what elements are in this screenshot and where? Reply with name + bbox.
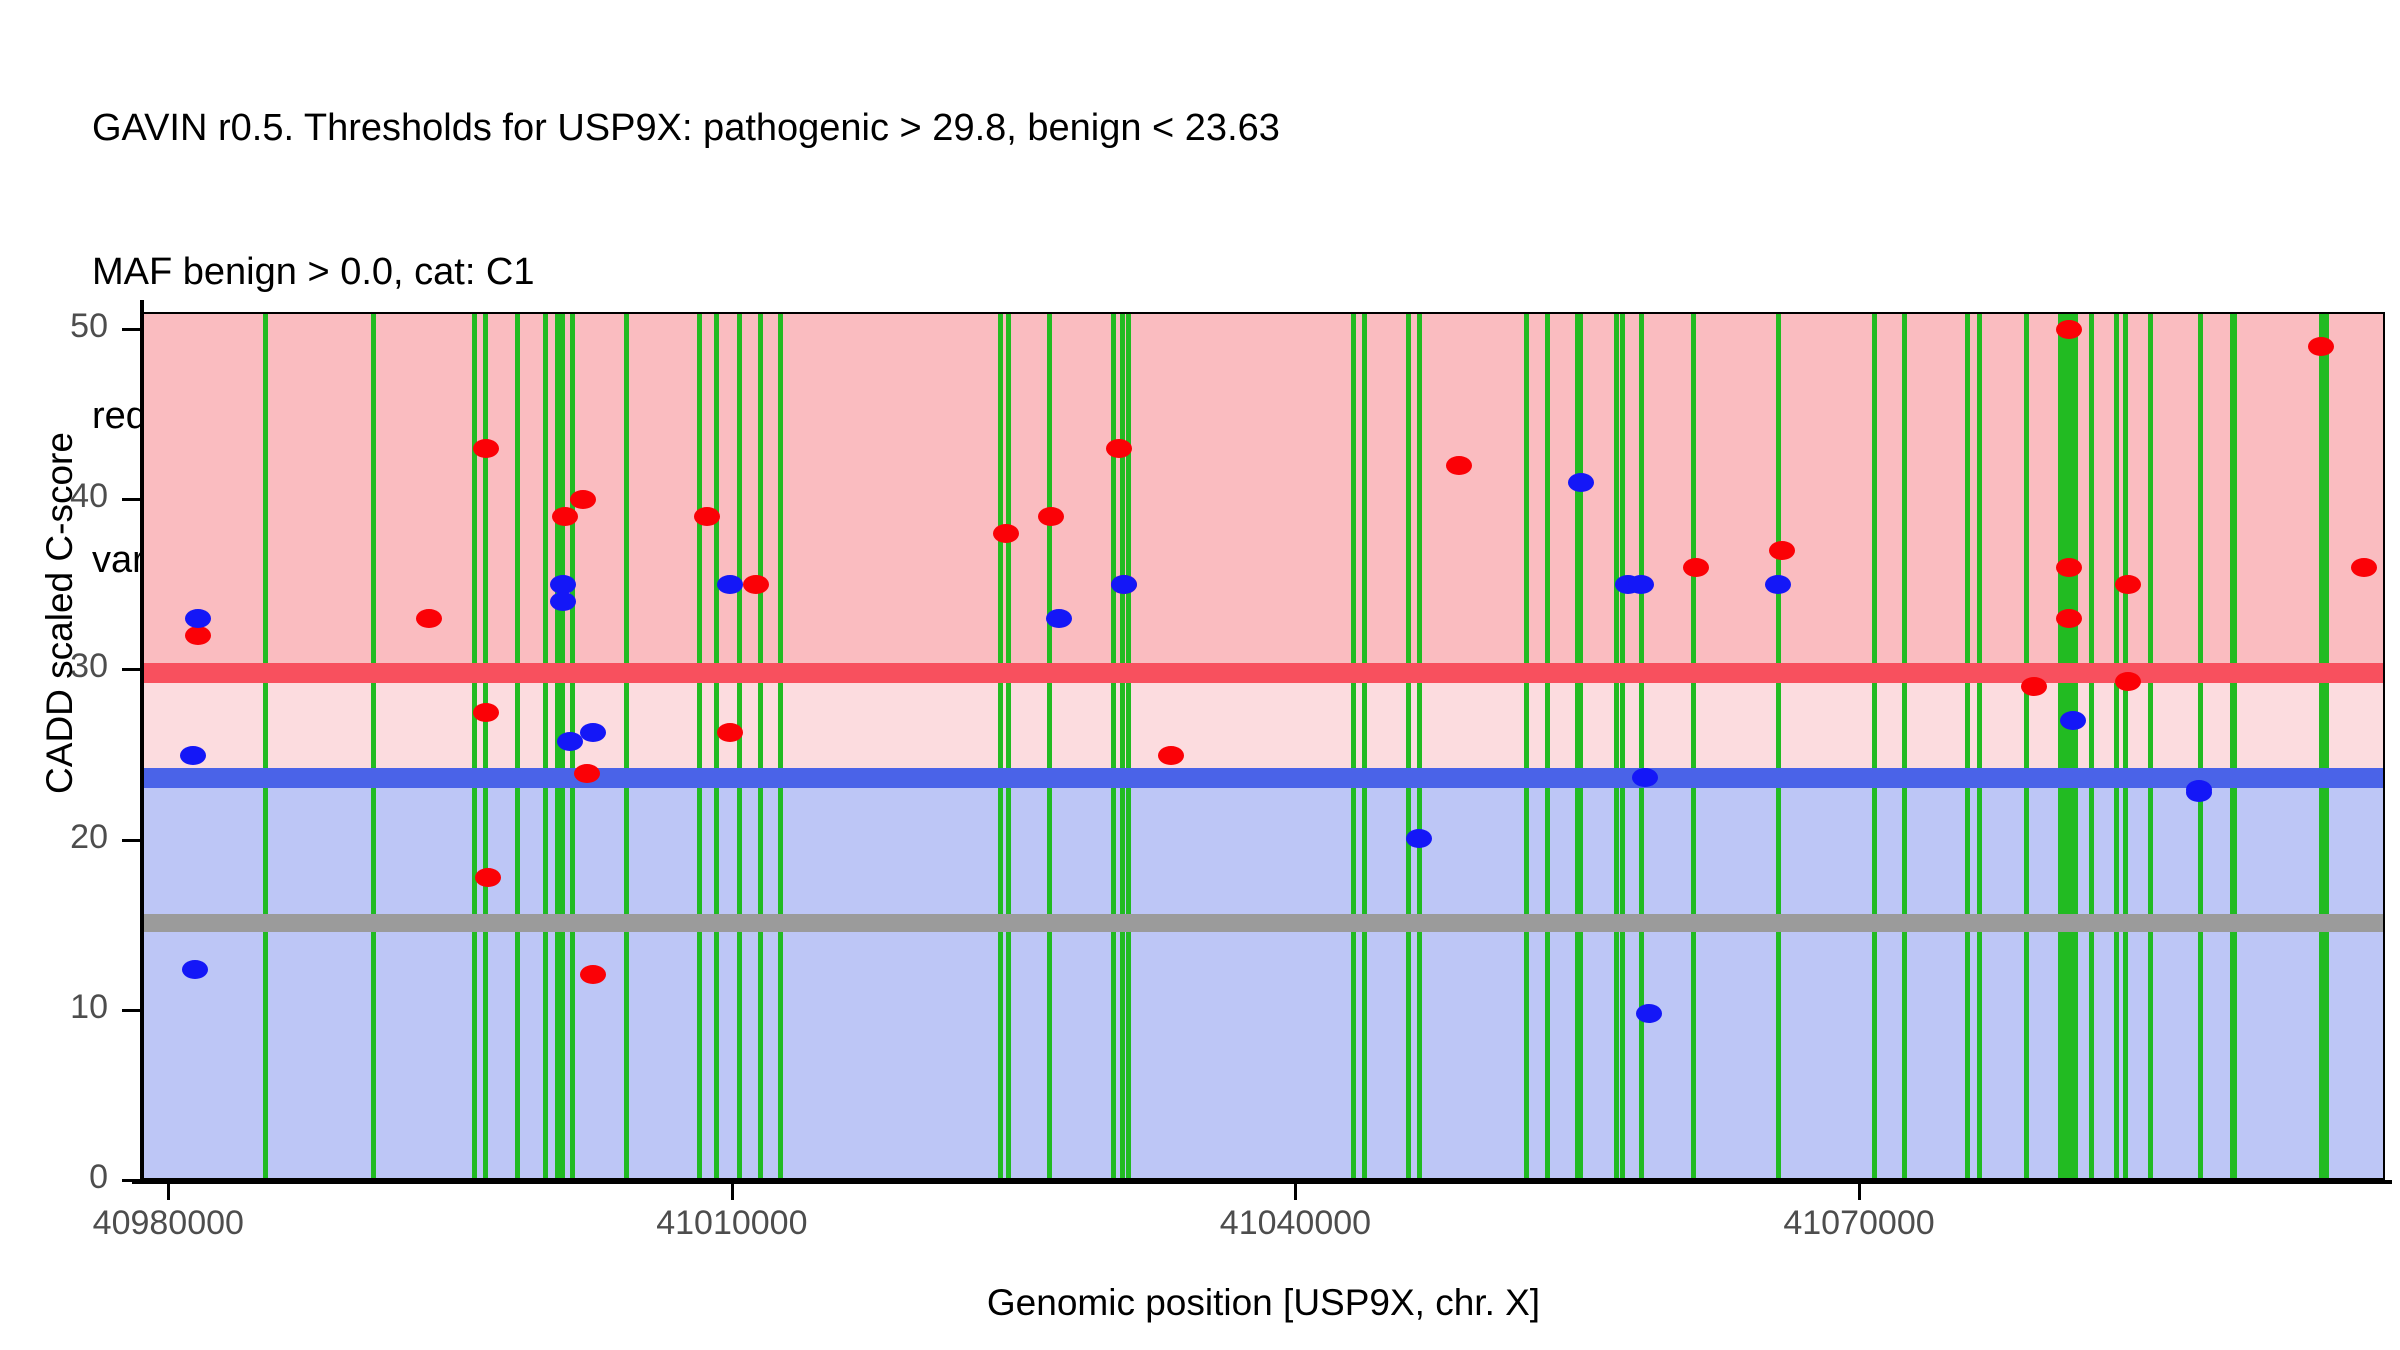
exon-line <box>1006 312 1011 1180</box>
y-tick <box>122 839 140 842</box>
data-point-red <box>1683 558 1709 577</box>
exon-line <box>737 312 742 1180</box>
exon-line <box>1776 312 1781 1180</box>
exon-line <box>758 312 763 1180</box>
exon-line <box>1620 312 1625 1180</box>
x-tick-label: 41070000 <box>1709 1204 2009 1243</box>
data-point-red <box>580 965 606 984</box>
exon-line <box>1902 312 1907 1180</box>
exon-line <box>1578 312 1583 1180</box>
x-axis-title: Genomic position [USP9X, chr. X] <box>142 1282 2385 1324</box>
x-tick <box>731 1184 734 1200</box>
y-tick-label: 0 <box>0 1158 108 1197</box>
scatter-plot: 0102030405040980000410100004104000041070… <box>0 0 2400 1350</box>
x-tick-label: 41010000 <box>582 1204 882 1243</box>
exon-line <box>697 312 702 1180</box>
x-tick <box>1294 1184 1297 1200</box>
exon-line <box>1545 312 1550 1180</box>
exon-line <box>1639 312 1644 1180</box>
exon-line <box>2232 312 2237 1180</box>
y-axis-line <box>140 300 144 1184</box>
exon-line <box>1977 312 1982 1180</box>
benign-threshold-line <box>142 768 2385 788</box>
data-point-red <box>473 439 499 458</box>
data-point-blue <box>182 960 208 979</box>
y-tick <box>122 1179 140 1182</box>
exon-line <box>543 312 548 1180</box>
exon-line <box>624 312 629 1180</box>
exon-line <box>1406 312 1411 1180</box>
band-vus <box>142 673 2385 778</box>
y-tick <box>122 668 140 671</box>
data-point-blue <box>2186 783 2212 802</box>
exon-line <box>2114 312 2119 1180</box>
exon-line <box>1524 312 1529 1180</box>
data-point-red <box>552 507 578 526</box>
exon-line <box>2198 312 2203 1180</box>
x-tick-label: 41040000 <box>1145 1204 1445 1243</box>
exon-line <box>515 312 520 1180</box>
x-axis-line <box>132 1180 2392 1184</box>
exon-line <box>2123 312 2128 1180</box>
exon-line <box>1362 312 1367 1180</box>
y-tick <box>122 1009 140 1012</box>
exon-line <box>371 312 376 1180</box>
exon-line <box>1965 312 1970 1180</box>
data-point-red <box>1106 439 1132 458</box>
exon-line <box>2089 312 2094 1180</box>
data-point-red <box>2115 672 2141 691</box>
exon-line <box>2071 312 2076 1180</box>
band-pathogenic <box>142 312 2385 673</box>
exon-line <box>1351 312 1356 1180</box>
exon-line <box>1047 312 1052 1180</box>
exon-line <box>2024 312 2029 1180</box>
exon-line <box>1614 312 1619 1180</box>
x-tick-label: 40980000 <box>18 1204 318 1243</box>
y-tick <box>122 498 140 501</box>
data-point-blue <box>180 746 206 765</box>
data-point-blue <box>1632 768 1658 787</box>
data-point-red <box>473 703 499 722</box>
data-point-red <box>2308 337 2334 356</box>
exon-line <box>1417 312 1422 1180</box>
exon-line <box>263 312 268 1180</box>
exon-line <box>1872 312 1877 1180</box>
plot-panel <box>142 312 2385 1180</box>
x-tick <box>1858 1184 1861 1200</box>
fallback-threshold-line <box>142 914 2385 932</box>
band-benign <box>142 778 2385 1180</box>
exon-line <box>714 312 719 1180</box>
pathogenic-threshold-line <box>142 663 2385 683</box>
data-point-red <box>2115 575 2141 594</box>
data-point-red <box>1446 456 1472 475</box>
y-axis-title: CADD scaled C-score <box>39 173 81 1053</box>
data-point-red <box>475 868 501 887</box>
x-tick <box>167 1184 170 1200</box>
exon-line <box>2324 312 2329 1180</box>
data-point-red <box>1158 746 1184 765</box>
exon-line <box>998 312 1003 1180</box>
exon-line <box>2148 312 2153 1180</box>
y-tick <box>122 328 140 331</box>
exon-line <box>1691 312 1696 1180</box>
exon-line <box>778 312 783 1180</box>
data-point-blue <box>1636 1004 1662 1023</box>
exon-line <box>2319 312 2324 1180</box>
